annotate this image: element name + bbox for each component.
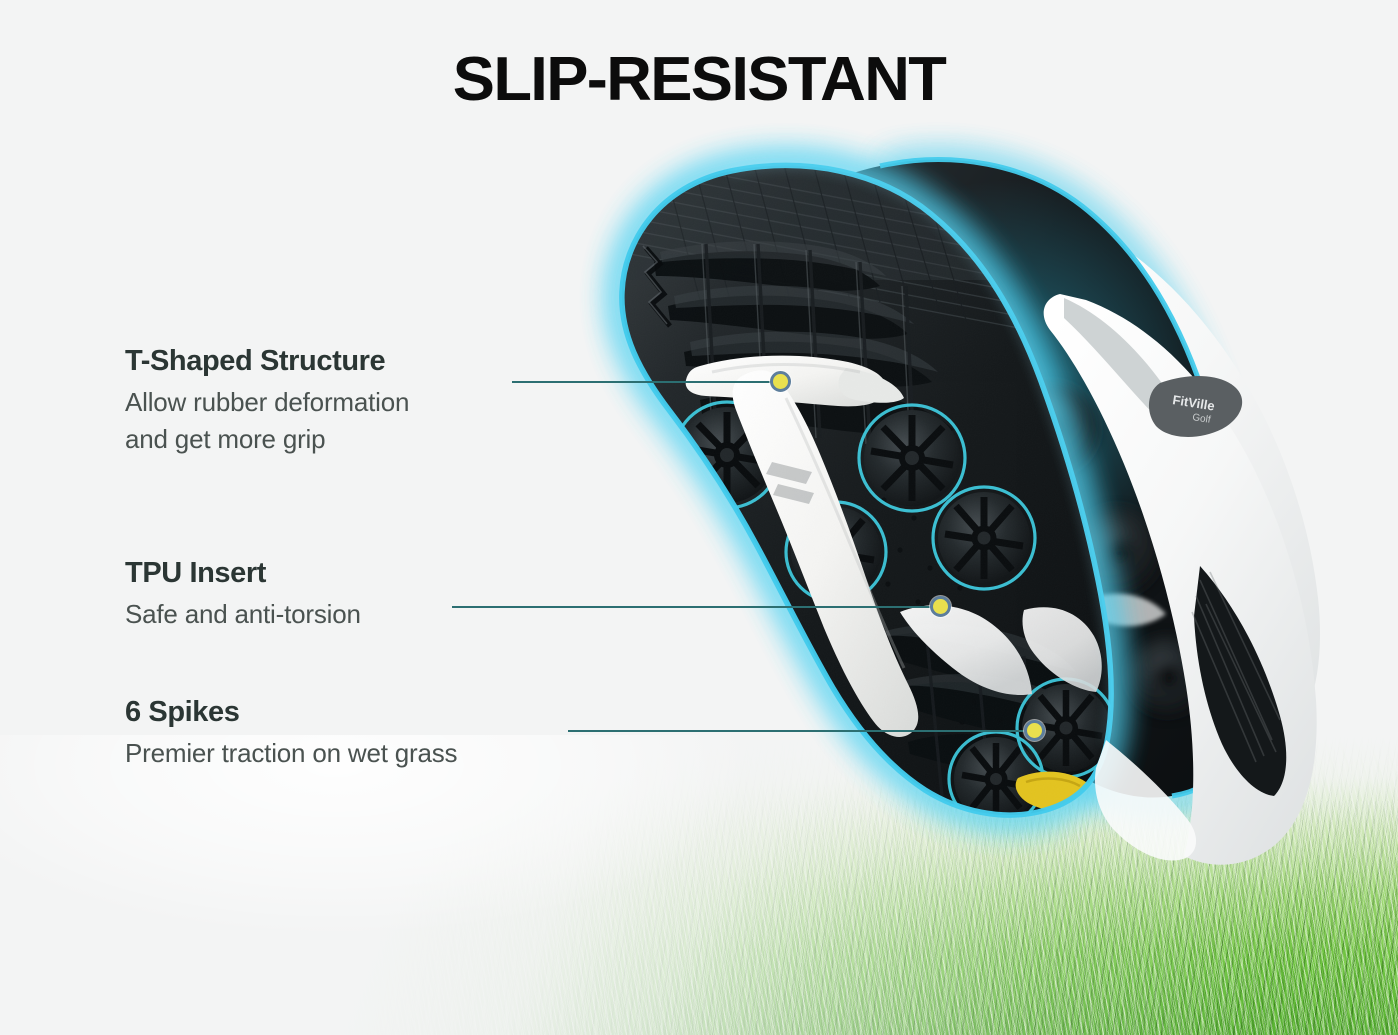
front-sole-cyan-inner-glow xyxy=(731,165,1111,742)
front-shoe-upper: FitVille Golf xyxy=(1044,294,1317,865)
spike-highlight-rings xyxy=(674,402,1115,826)
callout-six-spikes: 6 Spikes Premier traction on wet grass xyxy=(125,696,457,772)
rear-sole-cyan-edge xyxy=(880,160,1256,796)
callout-body: Safe and anti-torsion xyxy=(125,596,361,633)
rear-heel-black-trim xyxy=(1219,508,1304,650)
callout-heading: 6 Spikes xyxy=(125,696,457,729)
sole-emboss-mark xyxy=(766,462,814,504)
front-midsole-band xyxy=(1095,740,1196,860)
spike-pod-1 xyxy=(679,407,775,503)
rear-upper-hex-texture xyxy=(956,190,1192,460)
callout-t-shaped-structure: T-Shaped Structure Allow rubber deformat… xyxy=(125,345,409,458)
rear-outsole xyxy=(775,160,1256,798)
tpu-t-shaped-structure xyxy=(686,356,1102,737)
forefoot-tread-bars xyxy=(643,241,954,452)
spike-pods xyxy=(679,407,1110,821)
infographic-canvas: FitVille Golf SLIP-RESISTANT T-Shaped St… xyxy=(0,0,1398,1035)
rear-sole-glow xyxy=(886,163,1258,802)
rear-shoe-upper xyxy=(971,196,1320,784)
front-upper-grey-accent xyxy=(1064,298,1186,423)
front-outsole xyxy=(622,165,1111,815)
shoe-svg: FitVille Golf xyxy=(0,0,1398,1035)
front-sole-cyan-edge xyxy=(622,165,1111,815)
page-title: SLIP-RESISTANT xyxy=(0,44,1398,115)
marker-tpu-insert[interactable] xyxy=(930,596,951,617)
grass-haze-overlay xyxy=(0,735,1398,1035)
heel-tread-blocks xyxy=(876,632,1096,787)
leader-line-spikes xyxy=(568,730,1032,732)
brand-badge: FitVille Golf xyxy=(1149,376,1242,437)
brand-badge-name: FitVille xyxy=(1172,392,1216,413)
spike-pod-2 xyxy=(864,410,960,506)
rear-shoe xyxy=(775,160,1320,804)
callout-heading: T-Shaped Structure xyxy=(125,345,409,378)
grass-fade-overlay xyxy=(0,735,1398,1035)
front-sole-glow xyxy=(622,165,1111,815)
callout-body: Allow rubber deformation and get more gr… xyxy=(125,384,409,458)
marker-t-shaped-structure[interactable] xyxy=(770,371,791,392)
front-heel-trim-lines xyxy=(1192,572,1280,762)
rear-heel-trim-texture xyxy=(1226,512,1302,652)
grass-blade-texture xyxy=(0,735,1398,1035)
leader-line-t-shaped xyxy=(512,381,774,383)
callout-tpu-insert: TPU Insert Safe and anti-torsion xyxy=(125,557,361,633)
callout-body: Premier traction on wet grass xyxy=(125,735,457,772)
rear-heel-white xyxy=(1196,520,1306,804)
callout-heading: TPU Insert xyxy=(125,557,361,590)
front-outsole-tread xyxy=(600,140,1140,840)
yellow-accent-patch xyxy=(1016,772,1095,812)
rear-outsole-detail xyxy=(800,180,1220,716)
grass-blade-texture-fine xyxy=(0,801,1398,1035)
leader-line-tpu xyxy=(452,606,936,608)
spike-pod-6 xyxy=(954,737,1038,821)
front-upper-white xyxy=(1044,294,1317,865)
front-heel-black-trim xyxy=(1194,566,1286,796)
toe-knurl-texture xyxy=(600,150,1060,334)
grass-background xyxy=(0,735,1398,1035)
grass-base-gradient xyxy=(0,735,1398,1035)
spike-pod-3 xyxy=(938,492,1030,584)
front-shoe xyxy=(600,140,1140,840)
brand-badge-sub: Golf xyxy=(1192,412,1212,426)
marker-six-spikes[interactable] xyxy=(1024,720,1045,741)
shoe-illustration: FitVille Golf xyxy=(0,0,1398,1035)
spike-pod-4 xyxy=(791,507,881,597)
